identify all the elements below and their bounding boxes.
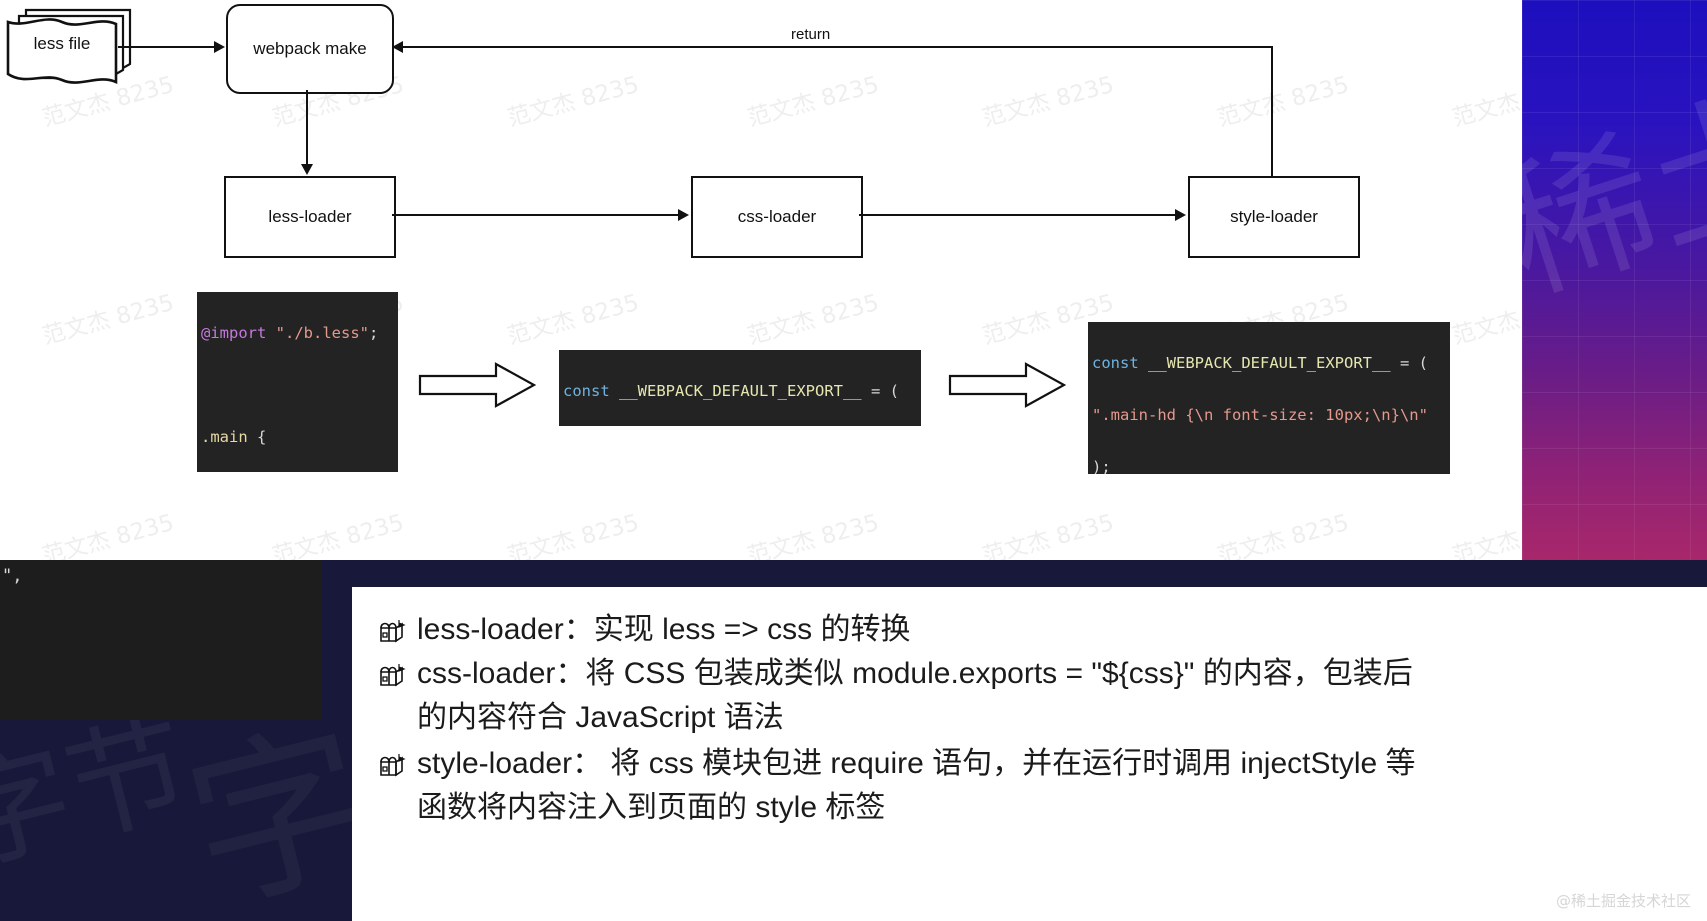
editor-fragment[interactable]: ", bbox=[0, 560, 321, 720]
note-text: less-loader：实现 less => css 的转换 bbox=[417, 609, 1679, 651]
watermark: 范文杰 8235 bbox=[38, 503, 177, 560]
edge-lessloader-to-cssloader-head bbox=[678, 209, 689, 221]
watermark: 范文杰 8235 bbox=[743, 65, 882, 133]
edge-webpack-to-lessloader bbox=[306, 90, 308, 166]
watermark: 范文杰 8235 bbox=[38, 283, 177, 351]
note-continuation: 函数将内容注入到页面的 style 标签 bbox=[417, 787, 1679, 829]
list-item: less-loader：实现 less => css 的转换 bbox=[378, 609, 1679, 651]
node-style-loader[interactable]: style-loader bbox=[1188, 176, 1360, 258]
node-style-loader-label: style-loader bbox=[1230, 207, 1318, 227]
flow-arrow-2 bbox=[948, 362, 1066, 408]
slide-canvas: 范文杰 8235 范文杰 8235 范文杰 8235 范文杰 8235 范文杰 … bbox=[0, 0, 1707, 560]
watermark: 范文杰 8235 bbox=[743, 283, 882, 351]
edge-label-return: return bbox=[785, 26, 836, 43]
list-item: style-loader： 将 css 模块包进 require 语句，并在运行… bbox=[378, 743, 1679, 785]
edge-lessfile-to-webpack bbox=[118, 46, 216, 48]
watermark: 范文杰 8235 bbox=[978, 65, 1117, 133]
edge-cssloader-to-styleloader bbox=[859, 214, 1177, 216]
code-block-style-loader-output: const __WEBPACK_DEFAULT_EXPORT__ = ( ".m… bbox=[1088, 322, 1450, 474]
node-webpack-make-label: webpack make bbox=[253, 39, 366, 59]
node-css-loader-label: css-loader bbox=[738, 207, 816, 227]
edge-lessloader-to-cssloader bbox=[392, 214, 680, 216]
presenter-notes-area: 字节 字节 ", less-loader：实现 less => css 的转换 bbox=[0, 560, 1707, 921]
editor-fragment-text: ", bbox=[2, 566, 22, 586]
list-item: css-loader：将 CSS 包装成类似 module.exports = … bbox=[378, 653, 1679, 695]
edge-return-horizontal bbox=[402, 46, 1273, 48]
deck-edge-gradient: 稀土 bbox=[1522, 0, 1707, 560]
watermark: 范文杰 8235 bbox=[268, 503, 407, 560]
node-less-loader-label: less-loader bbox=[268, 207, 351, 227]
mailbox-icon bbox=[378, 660, 408, 690]
node-less-loader[interactable]: less-loader bbox=[224, 176, 396, 258]
watermark: 范文杰 8235 bbox=[743, 503, 882, 560]
note-text: style-loader： 将 css 模块包进 require 语句，并在运行… bbox=[417, 743, 1679, 785]
backdrop-glyph-secondary: 字节 bbox=[0, 708, 201, 882]
edge-return-vertical bbox=[1271, 46, 1273, 177]
node-webpack-make[interactable]: webpack make bbox=[226, 4, 394, 94]
edge-webpack-to-lessloader-head bbox=[301, 164, 313, 175]
watermark: 范文杰 8235 bbox=[1213, 503, 1352, 560]
watermark: 范文杰 8235 bbox=[503, 283, 642, 351]
watermark: 范文杰 8235 bbox=[503, 65, 642, 133]
notes-card: less-loader：实现 less => css 的转换 css-loade… bbox=[352, 587, 1707, 921]
mailbox-icon bbox=[378, 616, 408, 646]
edge-return-head bbox=[392, 41, 403, 53]
node-css-loader[interactable]: css-loader bbox=[691, 176, 863, 258]
note-text: css-loader：将 CSS 包装成类似 module.exports = … bbox=[417, 653, 1679, 695]
edge-lessfile-to-webpack-head bbox=[214, 41, 225, 53]
code-block-less-source: @import "./b.less"; .main { &-hd { font-… bbox=[197, 292, 398, 472]
site-watermark: @稀土掘金技术社区 bbox=[1556, 890, 1691, 911]
mailbox-icon bbox=[378, 750, 408, 780]
flow-arrow-1 bbox=[418, 362, 536, 408]
code-block-css-loader-output: const __WEBPACK_DEFAULT_EXPORT__ = ( ".m… bbox=[559, 350, 921, 426]
watermark: 范文杰 8235 bbox=[503, 503, 642, 560]
edge-cssloader-to-styleloader-head bbox=[1175, 209, 1186, 221]
node-less-file-label: less file bbox=[10, 34, 114, 54]
watermark: 范文杰 8235 bbox=[978, 503, 1117, 560]
note-continuation: 的内容符合 JavaScript 语法 bbox=[417, 697, 1679, 739]
watermark: 范文杰 8235 bbox=[1213, 65, 1352, 133]
